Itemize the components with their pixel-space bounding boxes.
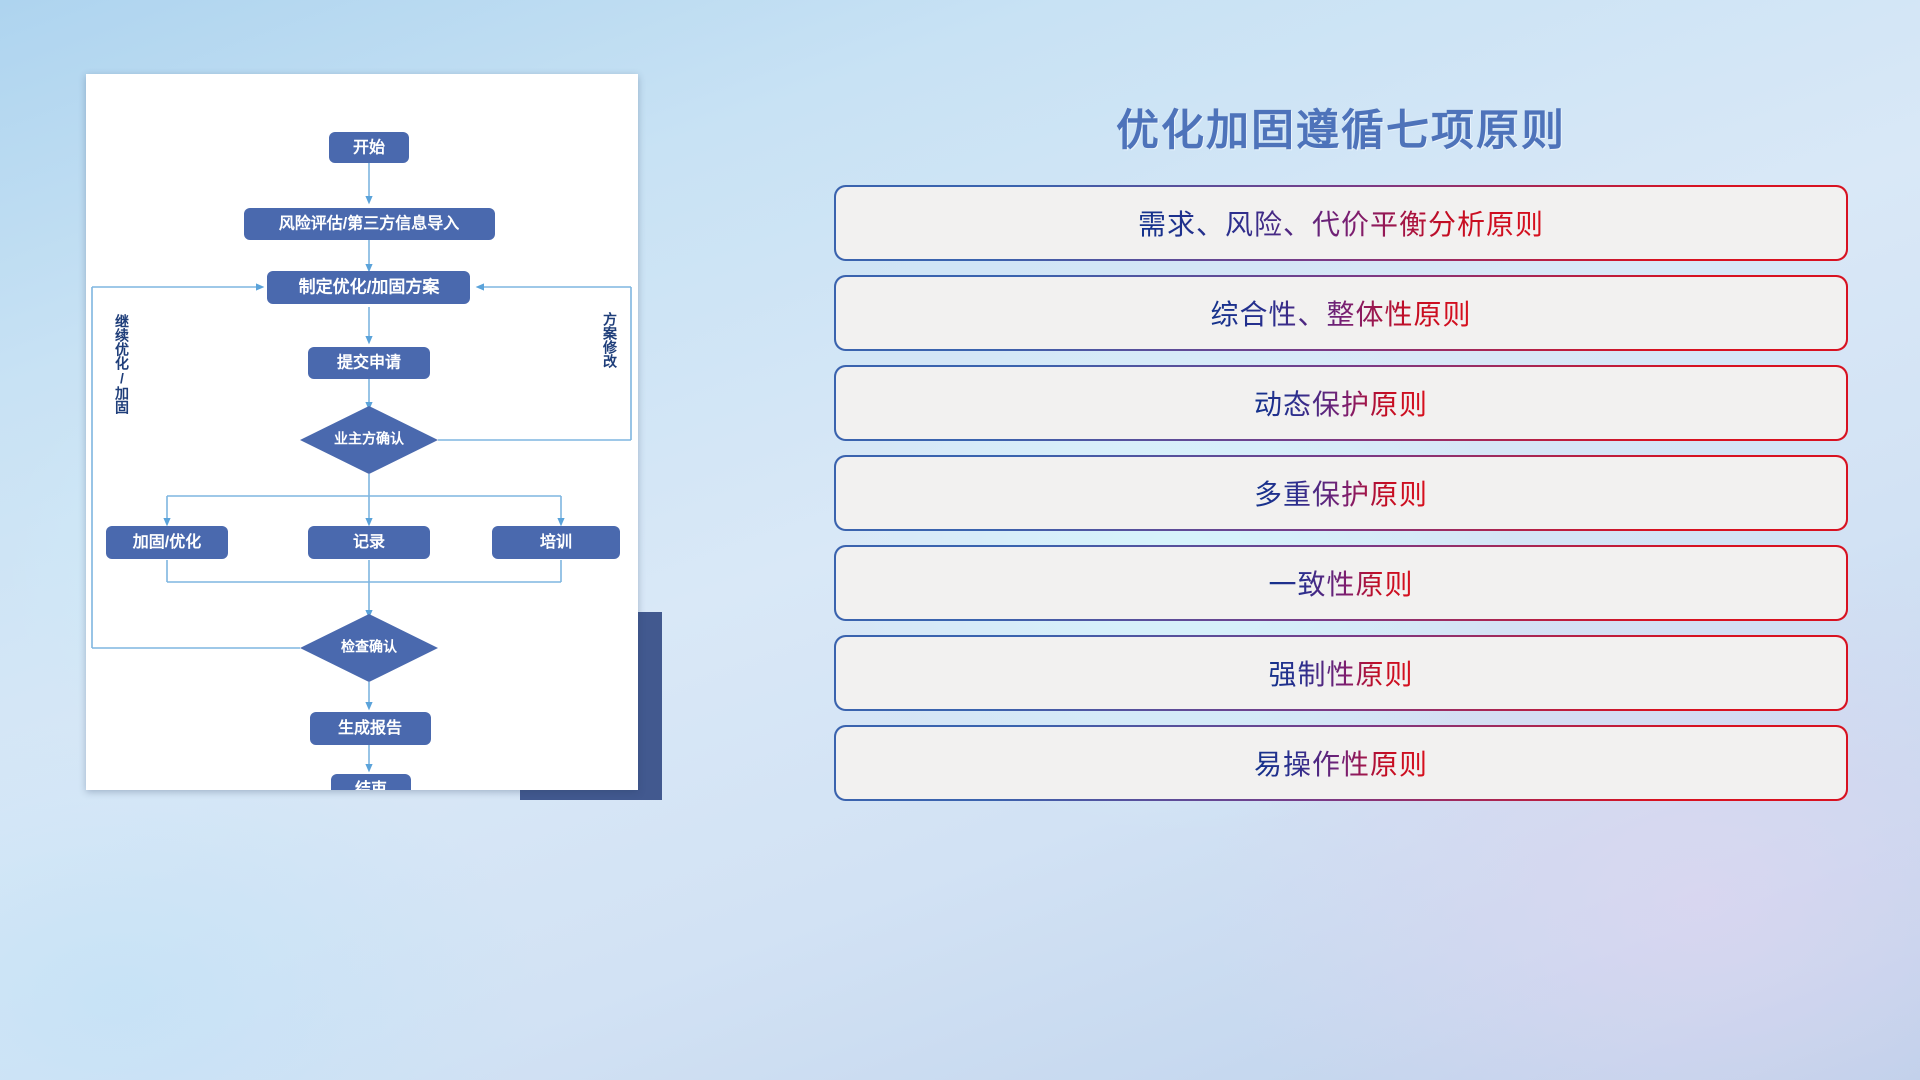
flow-node-record[interactable]: 记录 xyxy=(308,526,430,559)
flow-node-plan-label: 制定优化/加固方案 xyxy=(299,276,441,296)
flow-node-training-label: 培训 xyxy=(540,532,572,551)
principle-item-label: 一致性原则 xyxy=(1268,563,1413,603)
flow-node-owner-confirm-label: 业主方确认 xyxy=(334,431,405,447)
flow-node-report-label: 生成报告 xyxy=(338,718,402,737)
principle-item-label: 综合性、整体性原则 xyxy=(1210,293,1471,333)
principle-item[interactable]: 综合性、整体性原则 xyxy=(836,277,1846,349)
flow-edge-label-left-loop: 继续优化/加固 xyxy=(114,313,130,415)
panel-title: 优化加固遵循七项原则 xyxy=(836,96,1846,158)
principle-item-label: 易操作性原则 xyxy=(1254,743,1428,783)
principles-panel: 优化加固遵循七项原则 需求、风险、代价平衡分析原则 综合性、整体性原则 动态保护… xyxy=(836,74,1846,1014)
principle-item[interactable]: 多重保护原则 xyxy=(836,457,1846,529)
slide-root: 开始 风险评估/第三方信息导入 制定优化/加固方案 提交申请 业主方确认 xyxy=(0,0,1920,1080)
principle-item-label: 强制性原则 xyxy=(1268,653,1413,693)
flow-node-record-label: 记录 xyxy=(353,533,385,551)
flow-edge-label-right-loop: 方案修改 xyxy=(602,311,618,369)
principles-list: 需求、风险、代价平衡分析原则 综合性、整体性原则 动态保护原则 多重保护原则 一… xyxy=(836,187,1846,817)
flow-node-end-label: 结束 xyxy=(354,779,388,790)
flow-node-risk[interactable]: 风险评估/第三方信息导入 xyxy=(244,208,495,240)
principle-item[interactable]: 需求、风险、代价平衡分析原则 xyxy=(836,187,1846,259)
principle-item[interactable]: 强制性原则 xyxy=(836,637,1846,709)
principle-item-label: 动态保护原则 xyxy=(1254,383,1428,423)
flowchart-card: 开始 风险评估/第三方信息导入 制定优化/加固方案 提交申请 业主方确认 xyxy=(86,74,638,790)
flow-node-end[interactable]: 结束 xyxy=(331,774,411,790)
flow-node-check-confirm[interactable]: 检查确认 xyxy=(300,614,438,682)
flow-node-start-label: 开始 xyxy=(353,138,385,157)
flow-node-submit[interactable]: 提交申请 xyxy=(308,347,430,379)
principle-item[interactable]: 易操作性原则 xyxy=(836,727,1846,799)
flow-node-owner-confirm[interactable]: 业主方确认 xyxy=(300,406,438,474)
flow-node-start[interactable]: 开始 xyxy=(329,132,409,163)
flowchart-diagram: 开始 风险评估/第三方信息导入 制定优化/加固方案 提交申请 业主方确认 xyxy=(86,74,638,790)
flow-node-reinforce-label: 加固/优化 xyxy=(132,532,201,551)
flow-node-report[interactable]: 生成报告 xyxy=(310,712,431,745)
principle-item-label: 多重保护原则 xyxy=(1254,473,1428,513)
principle-item[interactable]: 一致性原则 xyxy=(836,547,1846,619)
flow-node-reinforce[interactable]: 加固/优化 xyxy=(106,526,228,559)
flow-node-submit-label: 提交申请 xyxy=(337,353,401,372)
flow-node-risk-label: 风险评估/第三方信息导入 xyxy=(279,214,459,233)
flow-node-plan[interactable]: 制定优化/加固方案 xyxy=(267,271,470,304)
flow-node-check-confirm-label: 检查确认 xyxy=(341,639,398,655)
flow-node-training[interactable]: 培训 xyxy=(492,526,620,559)
principle-item-label: 需求、风险、代价平衡分析原则 xyxy=(1138,203,1544,243)
principle-item[interactable]: 动态保护原则 xyxy=(836,367,1846,439)
